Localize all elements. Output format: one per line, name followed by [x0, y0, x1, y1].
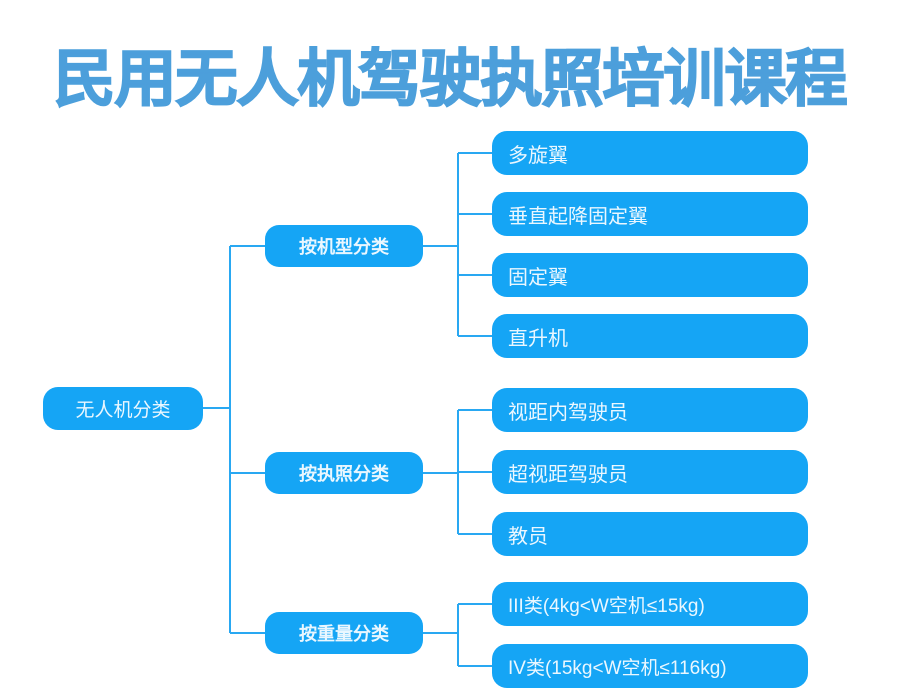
node-leaf-helicopter[interactable]: 直升机: [492, 314, 808, 358]
node-leaf-bvlos-pilot[interactable]: 超视距驾驶员: [492, 450, 808, 494]
node-leaf-fixed-wing[interactable]: 固定翼: [492, 253, 808, 297]
node-leaf-label: 教员: [508, 520, 548, 549]
node-leaf-class-iii[interactable]: III类(4kg<W空机≤15kg): [492, 582, 808, 626]
node-branch-weight-type[interactable]: 按重量分类: [265, 612, 423, 654]
node-leaf-label: 多旋翼: [508, 139, 568, 168]
node-leaf-label: 直升机: [508, 322, 568, 351]
node-branch-license-type[interactable]: 按执照分类: [265, 452, 423, 494]
node-leaf-label: III类(4kg<W空机≤15kg): [508, 591, 705, 618]
mindmap-canvas: 民用无人机驾驶执照培训课程 无人机分类 按机型分类: [0, 0, 900, 700]
node-branch-aircraft-type[interactable]: 按机型分类: [265, 225, 423, 267]
node-branch-label: 按机型分类: [299, 233, 389, 259]
node-leaf-label: 超视距驾驶员: [508, 458, 628, 487]
node-leaf-label: 垂直起降固定翼: [508, 200, 648, 229]
node-leaf-label: 视距内驾驶员: [508, 396, 628, 425]
node-leaf-label: IV类(15kg<W空机≤116kg): [508, 653, 727, 680]
node-branch-label: 按重量分类: [299, 620, 389, 646]
node-leaf-class-iv[interactable]: IV类(15kg<W空机≤116kg): [492, 644, 808, 688]
node-leaf-label: 固定翼: [508, 261, 568, 290]
node-leaf-vlos-pilot[interactable]: 视距内驾驶员: [492, 388, 808, 432]
node-branch-label: 按执照分类: [299, 460, 389, 486]
node-leaf-instructor[interactable]: 教员: [492, 512, 808, 556]
node-root-label: 无人机分类: [75, 395, 170, 422]
node-root[interactable]: 无人机分类: [43, 387, 203, 430]
node-leaf-multirotor[interactable]: 多旋翼: [492, 131, 808, 175]
node-leaf-vtol-fixed-wing[interactable]: 垂直起降固定翼: [492, 192, 808, 236]
